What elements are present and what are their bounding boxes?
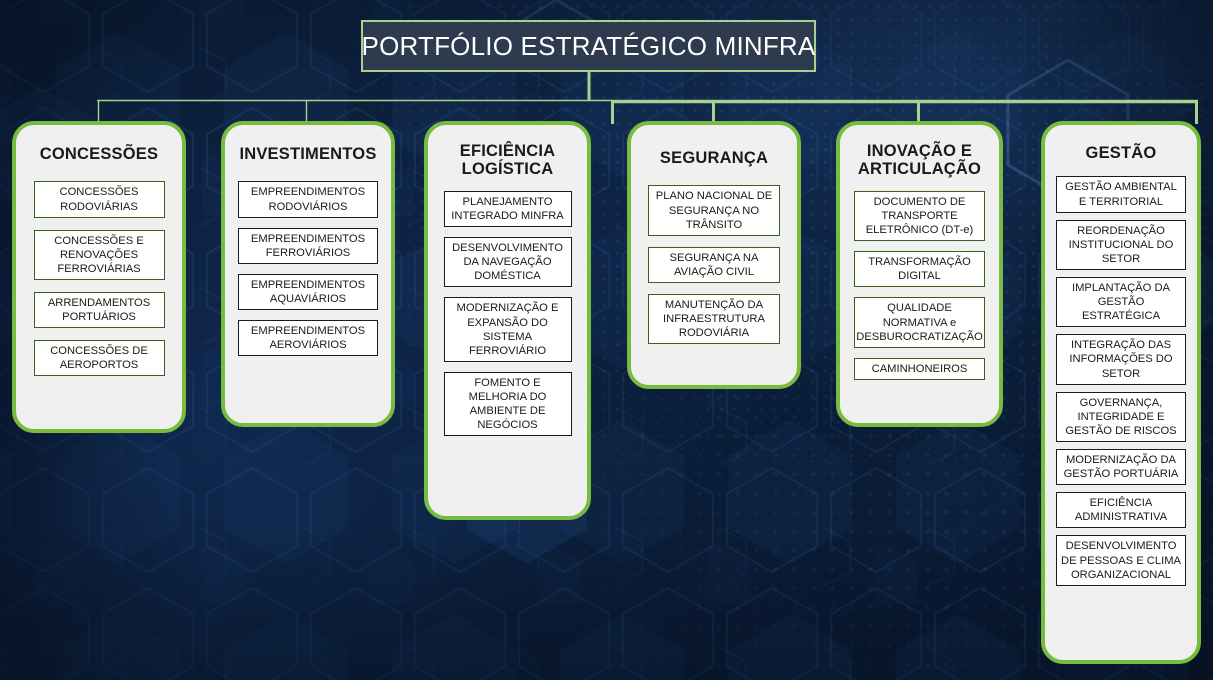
pillar-card-investimentos[interactable]: INVESTIMENTOSEMPREENDIMENTOS RODOVIÁRIOS… — [221, 121, 395, 427]
program-box-caminhoneiros[interactable]: CAMINHONEIROS — [854, 358, 985, 380]
program-box-arrendamentos-portuarios[interactable]: ARRENDAMENTOS PORTUÁRIOS — [34, 292, 165, 328]
program-box-empreendimentos-rodoviarios[interactable]: EMPREENDIMENTOS RODOVIÁRIOS — [238, 181, 378, 217]
pillar-item-list: GESTÃO AMBIENTAL E TERRITORIALREORDENAÇÃ… — [1045, 176, 1197, 585]
program-box-seguranca-na-aviacao-civil[interactable]: SEGURANÇA NA AVIAÇÃO CIVIL — [648, 247, 780, 283]
pillar-title-eficiencia-logistica: EFICIÊNCIA LOGÍSTICA — [434, 142, 580, 179]
pillar-card-inovacao-articulacao[interactable]: INOVAÇÃO E ARTICULAÇÃODOCUMENTO DE TRANS… — [836, 121, 1003, 427]
program-box-integracao-das-informacoes-do-setor[interactable]: INTEGRAÇÃO DAS INFORMAÇÕES DO SETOR — [1056, 334, 1186, 384]
program-box-empreendimentos-aquaviarios[interactable]: EMPREENDIMENTOS AQUAVIÁRIOS — [238, 274, 378, 310]
program-box-concessoes-e-renovacoes-ferroviarias[interactable]: CONCESSÕES E RENOVAÇÕES FERROVIÁRIAS — [34, 230, 165, 280]
pillar-card-gestao[interactable]: GESTÃOGESTÃO AMBIENTAL E TERRITORIALREOR… — [1041, 121, 1201, 664]
pillar-card-eficiencia-logistica[interactable]: EFICIÊNCIA LOGÍSTICAPLANEJAMENTO INTEGRA… — [424, 121, 591, 520]
pillar-title-concessoes: CONCESSÕES — [23, 145, 176, 163]
program-box-documento-de-transporte-eletronico-dt-e[interactable]: DOCUMENTO DE TRANSPORTE ELETRÔNICO (DT-e… — [854, 191, 985, 241]
program-box-manutencao-da-infraestrutura-rodoviaria[interactable]: MANUTENÇÃO DA INFRAESTRUTURA RODOVIÁRIA — [648, 294, 780, 344]
program-box-desenvolvimento-de-pessoas-e-clima-organizacional[interactable]: DESENVOLVIMENTO DE PESSOAS E CLIMA ORGAN… — [1056, 535, 1186, 585]
program-box-transformacao-digital[interactable]: TRANSFORMAÇÃO DIGITAL — [854, 251, 985, 287]
program-box-concessoes-rodoviarias[interactable]: CONCESSÕES RODOVIÁRIAS — [34, 181, 165, 217]
program-box-qualidade-normativa-e-desburocratizacao[interactable]: QUALIDADE NORMATIVA e DESBUROCRATIZAÇÃO — [854, 297, 985, 347]
program-box-governanca-integridade-e-gestao-de-riscos[interactable]: GOVERNANÇA, INTEGRIDADE E GESTÃO DE RISC… — [1056, 392, 1186, 442]
pillar-title-investimentos: INVESTIMENTOS — [232, 145, 385, 163]
program-box-implantacao-da-gestao-estrategica[interactable]: IMPLANTAÇÃO DA GESTÃO ESTRATÉGICA — [1056, 277, 1186, 327]
program-box-fomento-e-melhoria-do-ambiente-de-negocios[interactable]: FOMENTO E MELHORIA DO AMBIENTE DE NEGÓCI… — [444, 372, 572, 436]
program-box-empreendimentos-aeroviarios[interactable]: EMPREENDIMENTOS AEROVIÁRIOS — [238, 320, 378, 356]
program-box-eficiencia-administrativa[interactable]: EFICIÊNCIA ADMINISTRATIVA — [1056, 492, 1186, 528]
program-box-planejamento-integrado-minfra[interactable]: PLANEJAMENTO INTEGRADO MINFRA — [444, 191, 572, 227]
pillar-item-list: PLANO NACIONAL DE SEGURANÇA NO TRÂNSITOS… — [631, 185, 797, 344]
program-box-modernizacao-e-expansao-do-sistema-ferroviario[interactable]: MODERNIZAÇÃO E EXPANSÃO DO SISTEMA FERRO… — [444, 297, 572, 361]
page-title: PORTFÓLIO ESTRATÉGICO MINFRA — [362, 31, 816, 62]
program-box-concessoes-de-aeroportos[interactable]: CONCESSÕES DE AEROPORTOS — [34, 340, 165, 376]
program-box-plano-nacional-de-seguranca-no-transito[interactable]: PLANO NACIONAL DE SEGURANÇA NO TRÂNSITO — [648, 185, 780, 235]
pillar-title-inovacao-e-articulacao: INOVAÇÃO E ARTICULAÇÃO — [846, 142, 992, 179]
program-box-reordenacao-institucional-do-setor[interactable]: REORDENAÇÃO INSTITUCIONAL DO SETOR — [1056, 220, 1186, 270]
diagram-canvas: PORTFÓLIO ESTRATÉGICO MINFRA CONCESSÕESC… — [0, 0, 1213, 680]
pillar-title-gestao: GESTÃO — [1051, 144, 1191, 162]
program-box-modernizacao-da-gestao-portuaria[interactable]: MODERNIZAÇÃO DA GESTÃO PORTUÁRIA — [1056, 449, 1186, 485]
main-title-box: PORTFÓLIO ESTRATÉGICO MINFRA — [361, 20, 816, 72]
pillar-item-list: EMPREENDIMENTOS RODOVIÁRIOSEMPREENDIMENT… — [225, 181, 391, 356]
program-box-gestao-ambiental-e-territorial[interactable]: GESTÃO AMBIENTAL E TERRITORIAL — [1056, 176, 1186, 212]
pillar-card-seguranca[interactable]: SEGURANÇAPLANO NACIONAL DE SEGURANÇA NO … — [627, 121, 801, 389]
pillar-card-concessoes[interactable]: CONCESSÕESCONCESSÕES RODOVIÁRIASCONCESSÕ… — [12, 121, 186, 433]
program-box-empreendimentos-ferroviarios[interactable]: EMPREENDIMENTOS FERROVIÁRIOS — [238, 228, 378, 264]
program-box-desenvolvimento-da-navegacao-domestica[interactable]: DESENVOLVIMENTO DA NAVEGAÇÃO DOMÉSTICA — [444, 237, 572, 287]
pillar-item-list: CONCESSÕES RODOVIÁRIASCONCESSÕES E RENOV… — [16, 181, 182, 376]
pillar-item-list: PLANEJAMENTO INTEGRADO MINFRADESENVOLVIM… — [428, 191, 587, 436]
pillar-item-list: DOCUMENTO DE TRANSPORTE ELETRÔNICO (DT-e… — [840, 191, 999, 380]
pillar-title-seguranca: SEGURANÇA — [638, 149, 791, 167]
